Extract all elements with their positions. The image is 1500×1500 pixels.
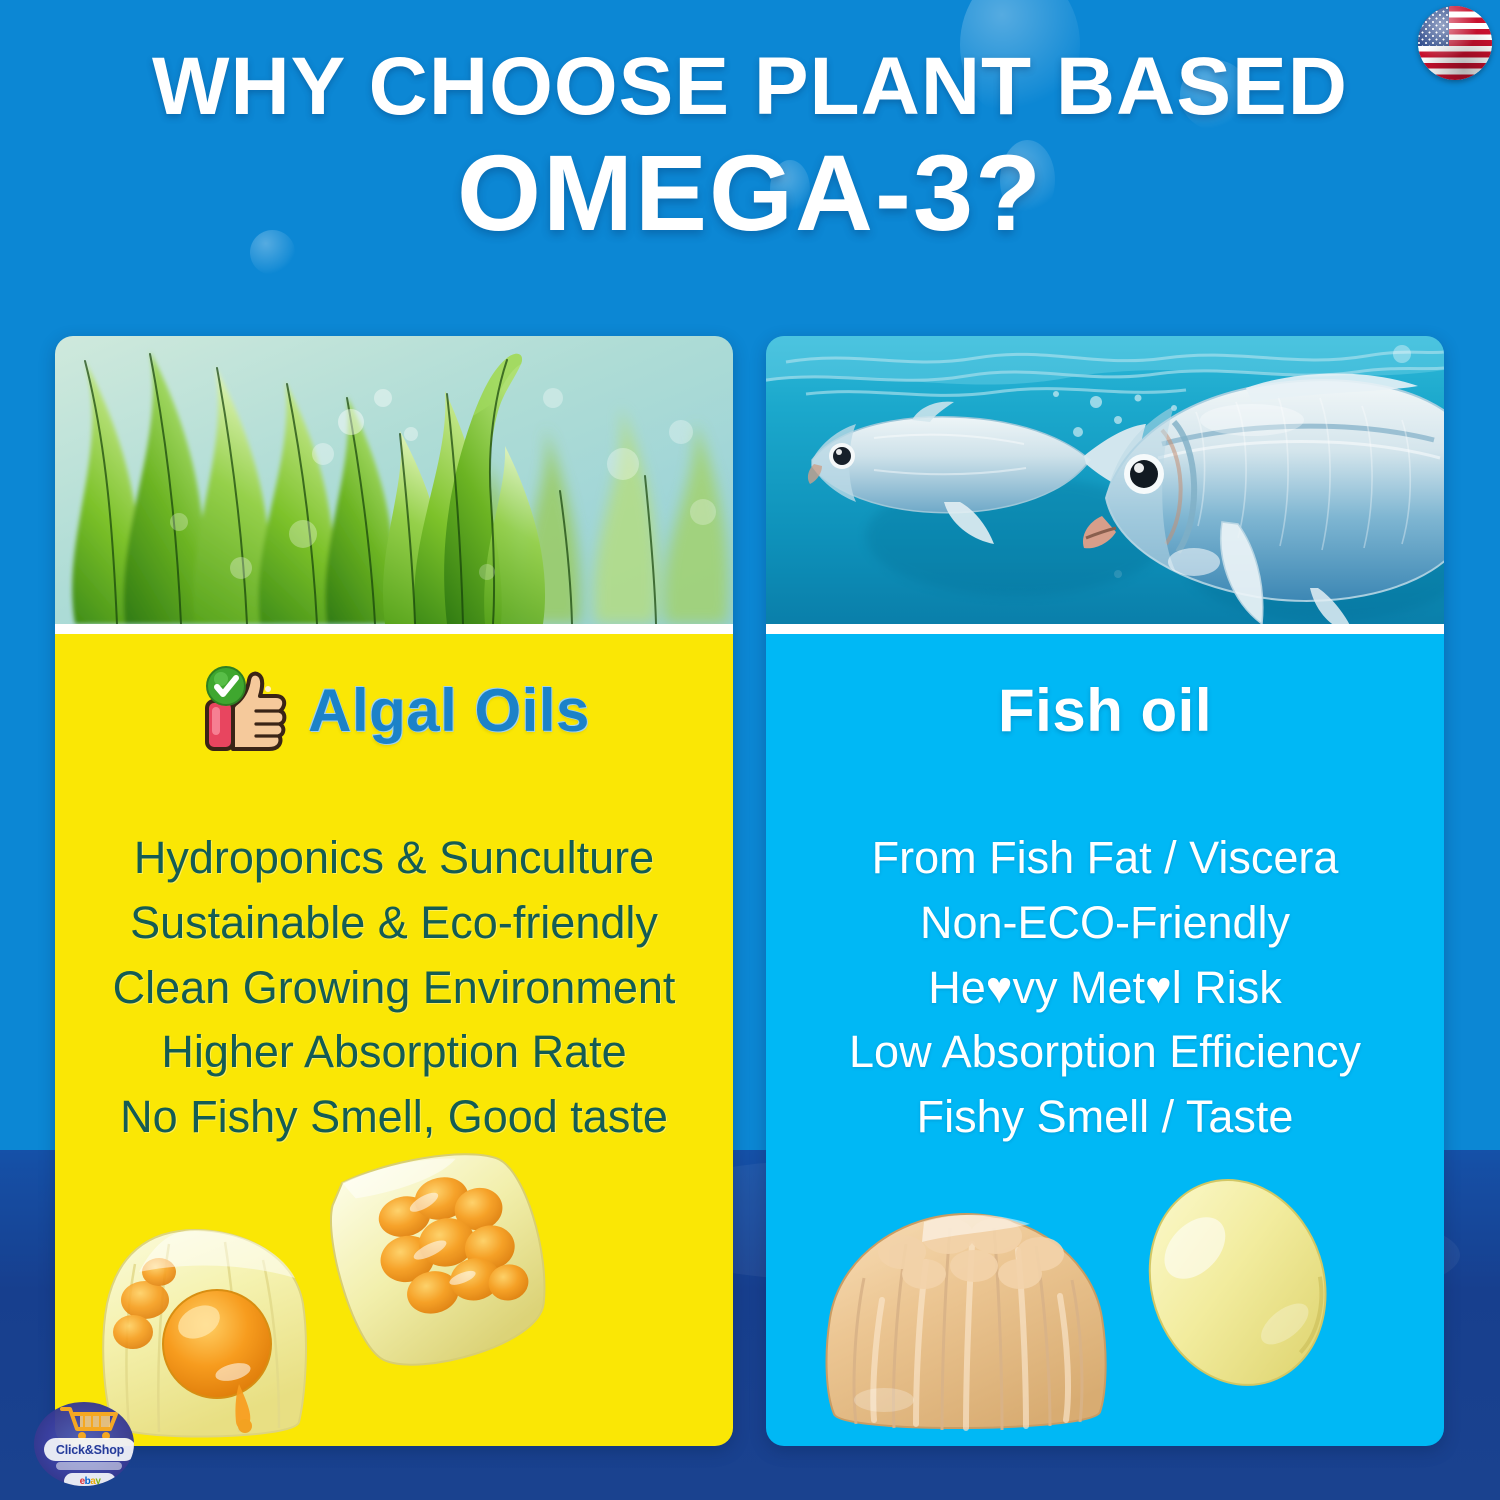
algal-gummies-illustration — [55, 1146, 733, 1446]
fish-illustration — [766, 336, 1444, 624]
list-item: Higher Absorption Rate — [79, 1020, 709, 1085]
fish-oil-gummy-image — [766, 1146, 1444, 1446]
fish-photo — [766, 336, 1444, 624]
shopping-cart-icon — [58, 1404, 122, 1442]
algal-oils-bullet-list: Hydroponics & Sunculture Sustainable & E… — [79, 826, 709, 1150]
list-item: From Fish Fat / Viscera — [790, 826, 1420, 891]
infographic-poster: WHY CHOOSE PLANT BASED OMEGA-3? — [0, 0, 1500, 1500]
card-fish-oil: Fish oil From Fish Fat / Viscera Non-ECO… — [766, 336, 1444, 1446]
card-title-fish-oil: Fish oil — [998, 681, 1212, 741]
list-item: Non-ECO-Friendly — [790, 891, 1420, 956]
thumbs-up-icon — [198, 665, 290, 757]
list-item: No Fishy Smell, Good taste — [79, 1085, 709, 1150]
fish-oil-panel: Fish oil From Fish Fat / Viscera Non-ECO… — [766, 634, 1444, 1446]
headline-secondary: OMEGA-3? — [0, 136, 1500, 249]
seller-watermark: Click&Shop ebay — [28, 1398, 140, 1490]
check-badge-icon — [207, 667, 245, 705]
comparison-cards: Algal Oils Hydroponics & Sunculture Sust… — [0, 336, 1500, 1448]
watermark-marketplace: ebay — [64, 1473, 116, 1486]
algae-illustration — [55, 336, 733, 624]
photo-divider — [766, 624, 1444, 634]
list-item: Sustainable & Eco-friendly — [79, 891, 709, 956]
algal-gummies-image — [55, 1146, 733, 1446]
list-item: Fishy Smell / Taste — [790, 1085, 1420, 1150]
headline-primary: WHY CHOOSE PLANT BASED — [0, 44, 1500, 130]
watermark-brand: Click&Shop — [44, 1438, 134, 1461]
algae-photo — [55, 336, 733, 624]
watermark-bar — [56, 1462, 122, 1470]
card-algal-oils: Algal Oils Hydroponics & Sunculture Sust… — [55, 336, 733, 1446]
watermark-circle: Click&Shop ebay — [34, 1402, 134, 1486]
fish-title-row: Fish oil — [790, 668, 1420, 754]
list-item: Low Absorption Efficiency — [790, 1020, 1420, 1085]
fish-oil-gummy-illustration — [766, 1146, 1444, 1446]
card-title-algal-oils: Algal Oils — [308, 681, 590, 741]
photo-divider — [55, 624, 733, 634]
list-item: He♥vy Met♥l Risk — [790, 956, 1420, 1021]
algal-title-row: Algal Oils — [79, 668, 709, 754]
thumbs-up-with-check-icon — [198, 665, 290, 757]
fish-oil-bullet-list: From Fish Fat / Viscera Non-ECO-Friendly… — [790, 826, 1420, 1150]
ebay-y: y — [95, 1476, 100, 1486]
poster-header: WHY CHOOSE PLANT BASED OMEGA-3? — [0, 44, 1500, 249]
list-item: Clean Growing Environment — [79, 956, 709, 1021]
algal-oils-panel: Algal Oils Hydroponics & Sunculture Sust… — [55, 634, 733, 1446]
list-item: Hydroponics & Sunculture — [79, 826, 709, 891]
